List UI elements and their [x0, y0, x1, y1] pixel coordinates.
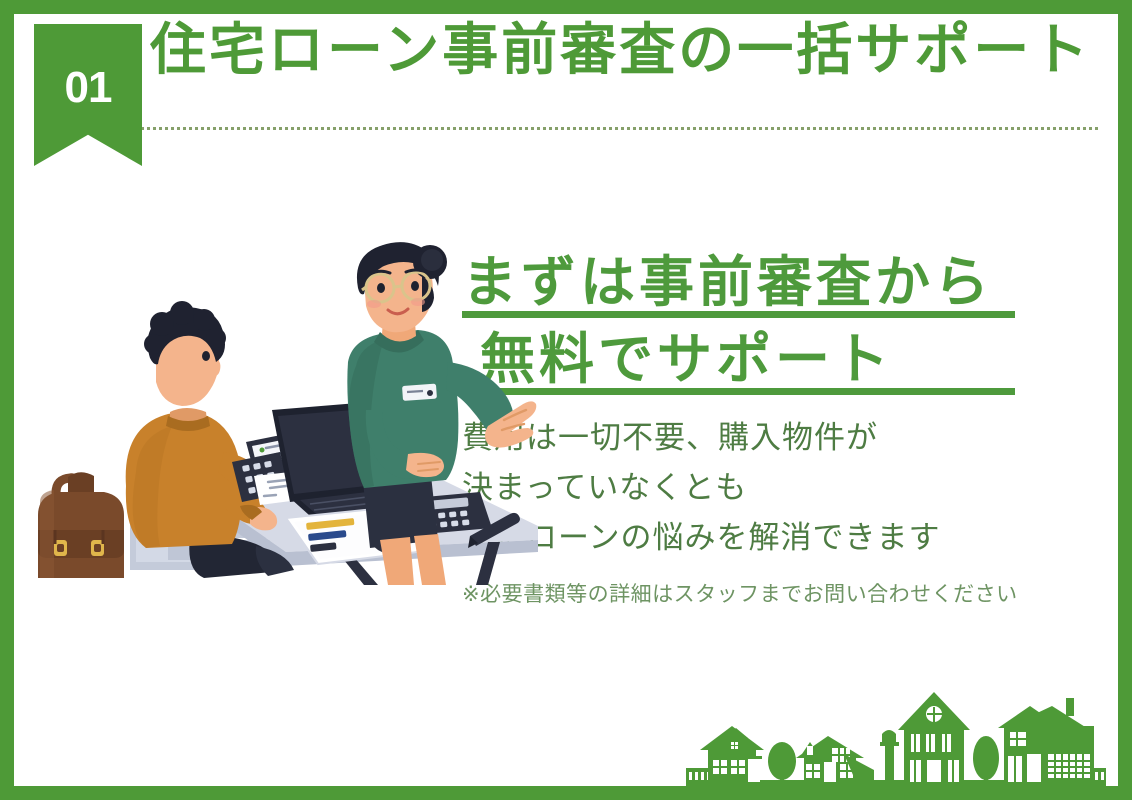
headline-line-1: まずは事前審査から [462, 255, 1082, 318]
lamp-post [880, 730, 899, 782]
slide-root: 01 住宅ローン事前審査の一括サポート [0, 0, 1132, 800]
page-title: 住宅ローン事前審査の一括サポート [150, 22, 1115, 81]
footnote-text: ※必要書類等の詳細はスタッフまでお問い合わせください [462, 580, 1082, 609]
frame-bottom-edge [0, 786, 1132, 800]
house-1 [700, 726, 764, 782]
headline-group: まずは事前審査から 無料でサポート [462, 255, 1082, 395]
house-2 [796, 736, 874, 782]
body-line-1: 費用は一切不要、購入物件が [462, 413, 1082, 463]
townscape-houses-silhouette [686, 676, 1106, 786]
header-divider [34, 127, 1098, 130]
house-3 [898, 692, 970, 782]
step-number-label: 01 [65, 66, 112, 110]
body-copy: 費用は一切不要、購入物件が 決まっていなくとも 先にローンの悩みを解消できます [462, 413, 1082, 564]
step-number-ribbon: 01 [34, 24, 142, 166]
fence-right [1090, 768, 1106, 782]
fence-left [686, 768, 708, 782]
headline-line-2: 無料でサポート [480, 332, 1082, 395]
consultation-illustration [18, 240, 538, 585]
tree-1 [768, 742, 796, 782]
header: 01 住宅ローン事前審査の一括サポート [0, 0, 1132, 175]
copy-block: まずは事前審査から 無料でサポート 費用は一切不要、購入物件が 決まっていなくと… [462, 255, 1082, 609]
body-line-3: 先にローンの悩みを解消できます [462, 513, 1082, 563]
tree-2 [973, 736, 999, 782]
house-4 [998, 698, 1094, 782]
backpack-shape [38, 472, 124, 578]
body-line-2: 決まっていなくとも [462, 463, 1082, 513]
